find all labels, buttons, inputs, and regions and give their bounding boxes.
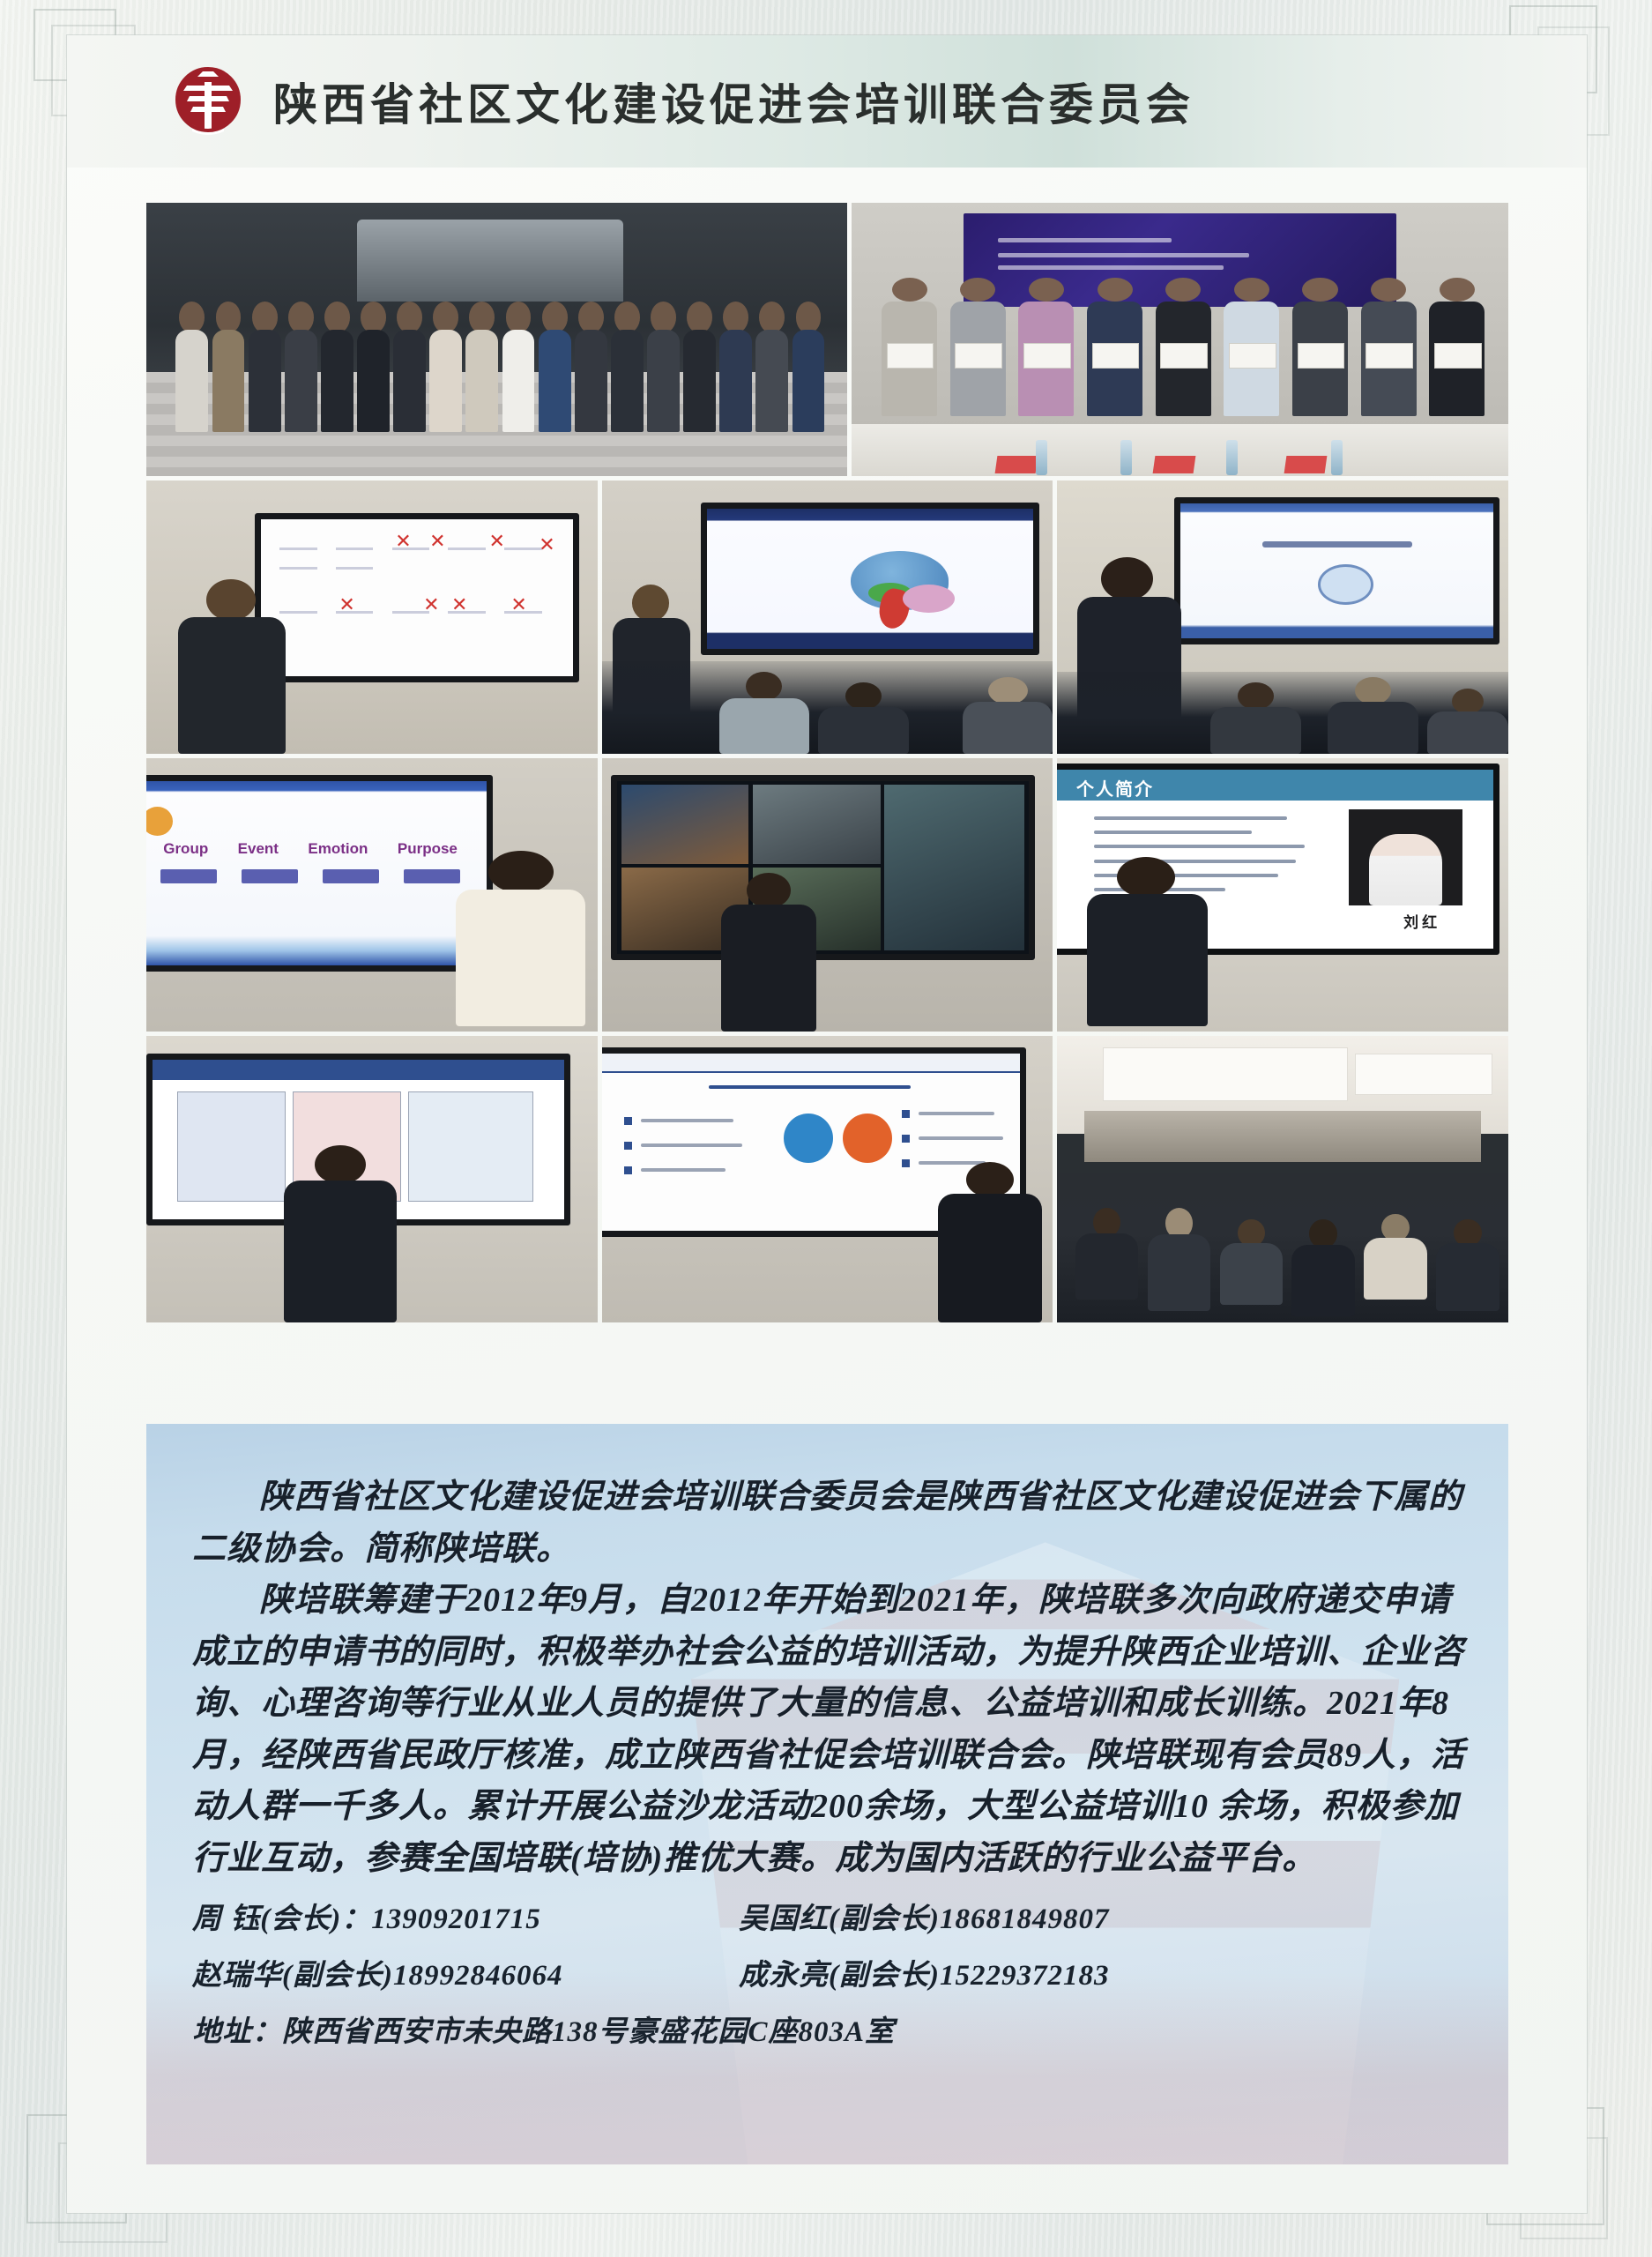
poster-card: 陕西省社区文化建设促进会培训联合委员会	[67, 35, 1587, 2213]
contact-phone: 18992846064	[393, 1960, 563, 1992]
profile-slide-title: 个人简介	[1076, 775, 1154, 801]
contact-list: 周 钰(会长)：13909201715 吴国红(副会长)18681849807 …	[146, 1895, 1508, 2050]
description-panel: 陕西省社区文化建设促进会培训联合委员会是陕西省社区文化建设促进会下属的二级协会。…	[146, 1424, 1508, 2164]
poster-header: 陕西省社区文化建设促进会培训联合委员会	[67, 35, 1587, 168]
gallery-row	[146, 203, 1508, 476]
award-ceremony-photo[interactable]	[852, 203, 1508, 476]
group-photo-steps[interactable]	[146, 203, 847, 476]
geep-labels: Group Event Emotion Purpose	[149, 840, 473, 858]
contact-name: 成永亮(副会长)	[739, 1960, 940, 1992]
lecture-profile-slide[interactable]: 个人简介 刘红	[1057, 758, 1508, 1032]
geep-label: Emotion	[308, 840, 368, 858]
contact-entry: 吴国红(副会长)18681849807	[739, 1895, 1109, 1937]
geep-label: Event	[238, 840, 279, 858]
address-line: 地址：陕西省西安市未央路138号豪盛花园C座803A室	[192, 2007, 1468, 2050]
contact-phone: 15229372183	[940, 1960, 1110, 1992]
description-paragraph: 陕西省社区文化建设促进会培训联合委员会是陕西省社区文化建设促进会下属的二级协会。…	[192, 1471, 1468, 1575]
page-title: 陕西省社区文化建设促进会培训联合委员会	[273, 70, 1194, 133]
contact-phone: 18681849807	[940, 1903, 1110, 1935]
contact-row: 周 钰(会长)：13909201715 吴国红(副会长)18681849807	[192, 1895, 1468, 1937]
description-text: 陕西省社区文化建设促进会培训联合委员会是陕西省社区文化建设促进会下属的二级协会。…	[146, 1424, 1508, 1884]
contact-entry: 成永亮(副会长)15229372183	[739, 1951, 1109, 1993]
lecture-female-speaker[interactable]	[1057, 480, 1508, 754]
contact-name: 赵瑞华(副会长)	[192, 1960, 393, 1992]
contact-row: 赵瑞华(副会长)18992846064 成永亮(副会长)15229372183	[192, 1951, 1468, 1993]
lecture-city-slide[interactable]	[602, 758, 1053, 1032]
gallery-row: ✕ ✕ ✕ ✕ ✕ ✕ ✕ ✕	[146, 480, 1508, 754]
contact-phone: 13909201715	[371, 1903, 541, 1935]
geep-label: Purpose	[398, 840, 458, 858]
lecture-table-slide[interactable]	[146, 1036, 598, 1322]
profile-slide-name: 刘红	[1403, 910, 1440, 932]
seal-emblem-logo	[173, 64, 243, 138]
geep-label: Group	[163, 840, 208, 858]
photo-gallery: ✕ ✕ ✕ ✕ ✕ ✕ ✕ ✕	[146, 203, 1508, 1322]
lecture-checklist-slide[interactable]: ✕ ✕ ✕ ✕ ✕ ✕ ✕ ✕	[146, 480, 598, 754]
lecture-diagram-slide[interactable]	[602, 1036, 1053, 1322]
lecture-brain-slide[interactable]	[602, 480, 1053, 754]
lecture-geep-slide[interactable]: Group Event Emotion Purpose	[146, 758, 598, 1032]
description-paragraph: 陕培联筹建于2012年9月，自2012年开始到2021年，陕培联多次向政府递交申…	[192, 1575, 1468, 1884]
banquet-hall-photo[interactable]	[1057, 1036, 1508, 1322]
gallery-row	[146, 1036, 1508, 1322]
contact-name: 周 钰(会长)：	[192, 1903, 371, 1935]
contact-entry: 周 钰(会长)：13909201715	[192, 1895, 739, 1937]
contact-name: 吴国红(副会长)	[739, 1903, 940, 1935]
contact-entry: 赵瑞华(副会长)18992846064	[192, 1951, 739, 1993]
gallery-row: Group Event Emotion Purpose	[146, 758, 1508, 1032]
